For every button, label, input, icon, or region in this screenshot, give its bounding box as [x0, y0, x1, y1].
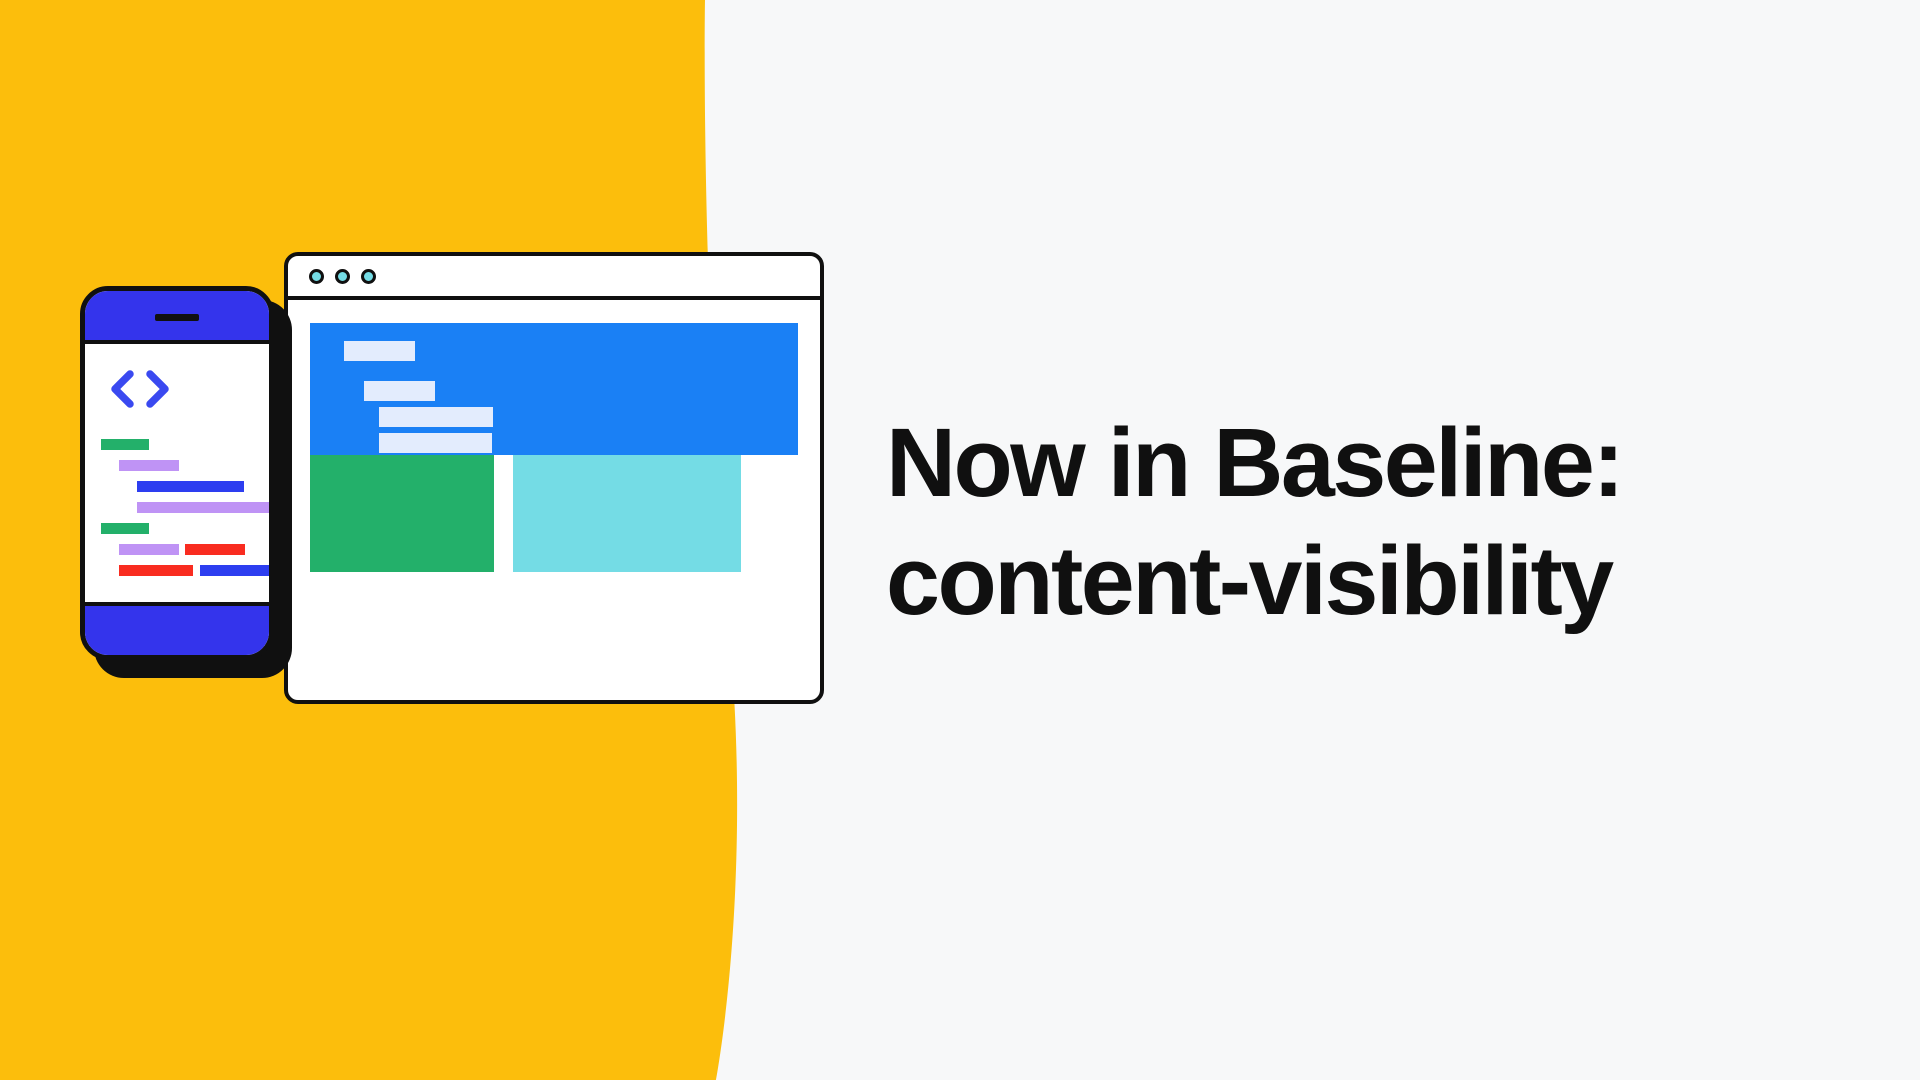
- hero-banner: Now in Baseline: content-visibility: [0, 0, 1920, 1080]
- placeholder-bar: [364, 381, 435, 401]
- placeholder-bar: [344, 341, 415, 361]
- content-card-green: [310, 455, 494, 572]
- code-token-bar: [200, 565, 274, 576]
- phone-frame: [80, 286, 274, 660]
- phone-speaker-icon: [155, 314, 199, 321]
- maximize-dot-icon[interactable]: [361, 269, 376, 284]
- code-token-bar: [101, 439, 149, 450]
- phone-device-mockup: [80, 286, 292, 678]
- code-token-bar: [119, 565, 193, 576]
- code-token-bar: [185, 544, 245, 555]
- code-line-row: [85, 523, 269, 534]
- phone-top-band: [85, 291, 269, 344]
- content-card-cyan: [513, 455, 741, 572]
- phone-screen: [85, 344, 269, 602]
- hero-block: [310, 323, 798, 455]
- code-chevrons-icon: [108, 369, 172, 409]
- placeholder-bar: [379, 407, 493, 427]
- content-card-row: [310, 455, 798, 572]
- placeholder-bar: [379, 433, 492, 453]
- code-line-row: [85, 439, 269, 450]
- code-token-bar: [119, 460, 179, 471]
- code-token-bar: [119, 544, 179, 555]
- browser-titlebar: [288, 256, 820, 300]
- minimize-dot-icon[interactable]: [335, 269, 350, 284]
- page-title: Now in Baseline: content-visibility: [886, 404, 1876, 641]
- page-title-line-1: Now in Baseline:: [886, 404, 1876, 522]
- browser-window-mockup: [284, 252, 824, 704]
- code-line-row: [85, 502, 269, 513]
- code-line-row: [85, 544, 269, 555]
- close-dot-icon[interactable]: [309, 269, 324, 284]
- code-line-row: [85, 460, 269, 471]
- code-token-bar: [137, 481, 244, 492]
- code-line-row: [85, 565, 269, 576]
- code-line-list: [85, 439, 269, 586]
- code-token-bar: [101, 523, 149, 534]
- code-token-bar: [137, 502, 274, 513]
- page-title-line-2: content-visibility: [886, 522, 1876, 640]
- code-line-row: [85, 481, 269, 492]
- phone-bottom-band: [85, 602, 269, 655]
